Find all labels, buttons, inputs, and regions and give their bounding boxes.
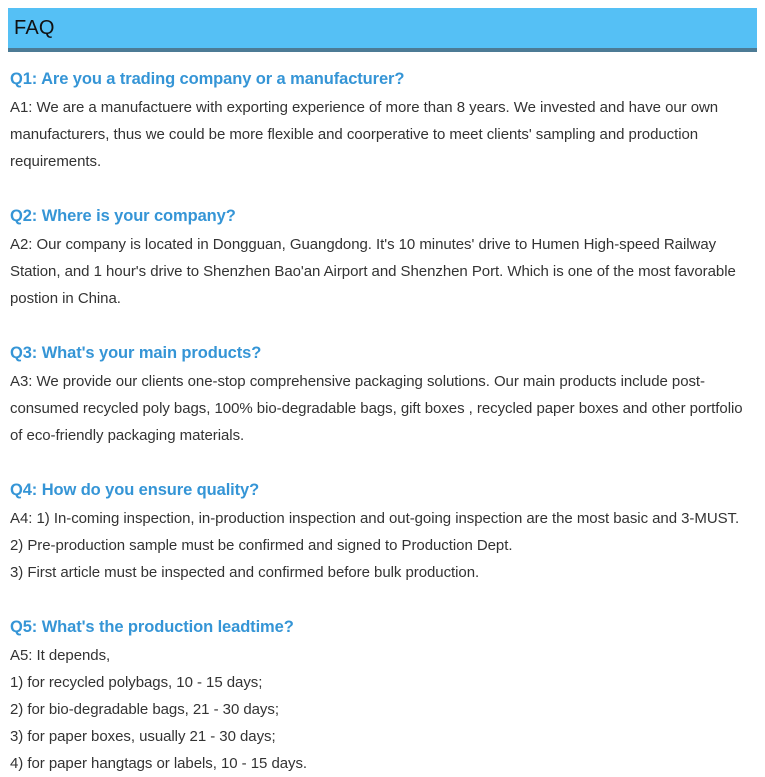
faq-answer-line: A5: It depends, bbox=[10, 642, 755, 669]
faq-header-title: FAQ bbox=[8, 18, 55, 38]
faq-question-4: Q4: How do you ensure quality? bbox=[10, 477, 755, 503]
faq-answer-1: A1: We are a manufactuere with exporting… bbox=[10, 94, 755, 175]
faq-item-2: Q2: Where is your company? A2: Our compa… bbox=[10, 203, 755, 312]
faq-answer-line: 3) First article must be inspected and c… bbox=[10, 559, 755, 586]
faq-answer-line: 4) for paper hangtags or labels, 10 - 15… bbox=[10, 750, 755, 777]
faq-question-3: Q3: What's your main products? bbox=[10, 340, 755, 366]
faq-answer-line: A2: Our company is located in Dongguan, … bbox=[10, 231, 755, 312]
faq-answer-line: 1) for recycled polybags, 10 - 15 days; bbox=[10, 669, 755, 696]
faq-answer-2: A2: Our company is located in Dongguan, … bbox=[10, 231, 755, 312]
faq-question-5: Q5: What's the production leadtime? bbox=[10, 614, 755, 640]
faq-answer-line: A1: We are a manufactuere with exporting… bbox=[10, 94, 755, 175]
faq-answer-3: A3: We provide our clients one-stop comp… bbox=[10, 368, 755, 449]
faq-item-3: Q3: What's your main products? A3: We pr… bbox=[10, 340, 755, 449]
faq-answer-5: A5: It depends, 1) for recycled polybags… bbox=[10, 642, 755, 777]
faq-answer-line: 2) Pre-production sample must be confirm… bbox=[10, 532, 755, 559]
faq-answer-line: 2) for bio-degradable bags, 21 - 30 days… bbox=[10, 696, 755, 723]
faq-page: FAQ Q1: Are you a trading company or a m… bbox=[0, 0, 765, 748]
faq-answer-line: A4: 1) In-coming inspection, in-producti… bbox=[10, 505, 755, 532]
faq-list: Q1: Are you a trading company or a manuf… bbox=[10, 66, 755, 777]
faq-item-1: Q1: Are you a trading company or a manuf… bbox=[10, 66, 755, 175]
faq-item-5: Q5: What's the production leadtime? A5: … bbox=[10, 614, 755, 777]
faq-question-2: Q2: Where is your company? bbox=[10, 203, 755, 229]
faq-header-banner: FAQ bbox=[8, 8, 757, 52]
faq-answer-4: A4: 1) In-coming inspection, in-producti… bbox=[10, 505, 755, 586]
faq-answer-line: A3: We provide our clients one-stop comp… bbox=[10, 368, 755, 449]
faq-answer-line: 3) for paper boxes, usually 21 - 30 days… bbox=[10, 723, 755, 750]
faq-question-1: Q1: Are you a trading company or a manuf… bbox=[10, 66, 755, 92]
faq-item-4: Q4: How do you ensure quality? A4: 1) In… bbox=[10, 477, 755, 586]
